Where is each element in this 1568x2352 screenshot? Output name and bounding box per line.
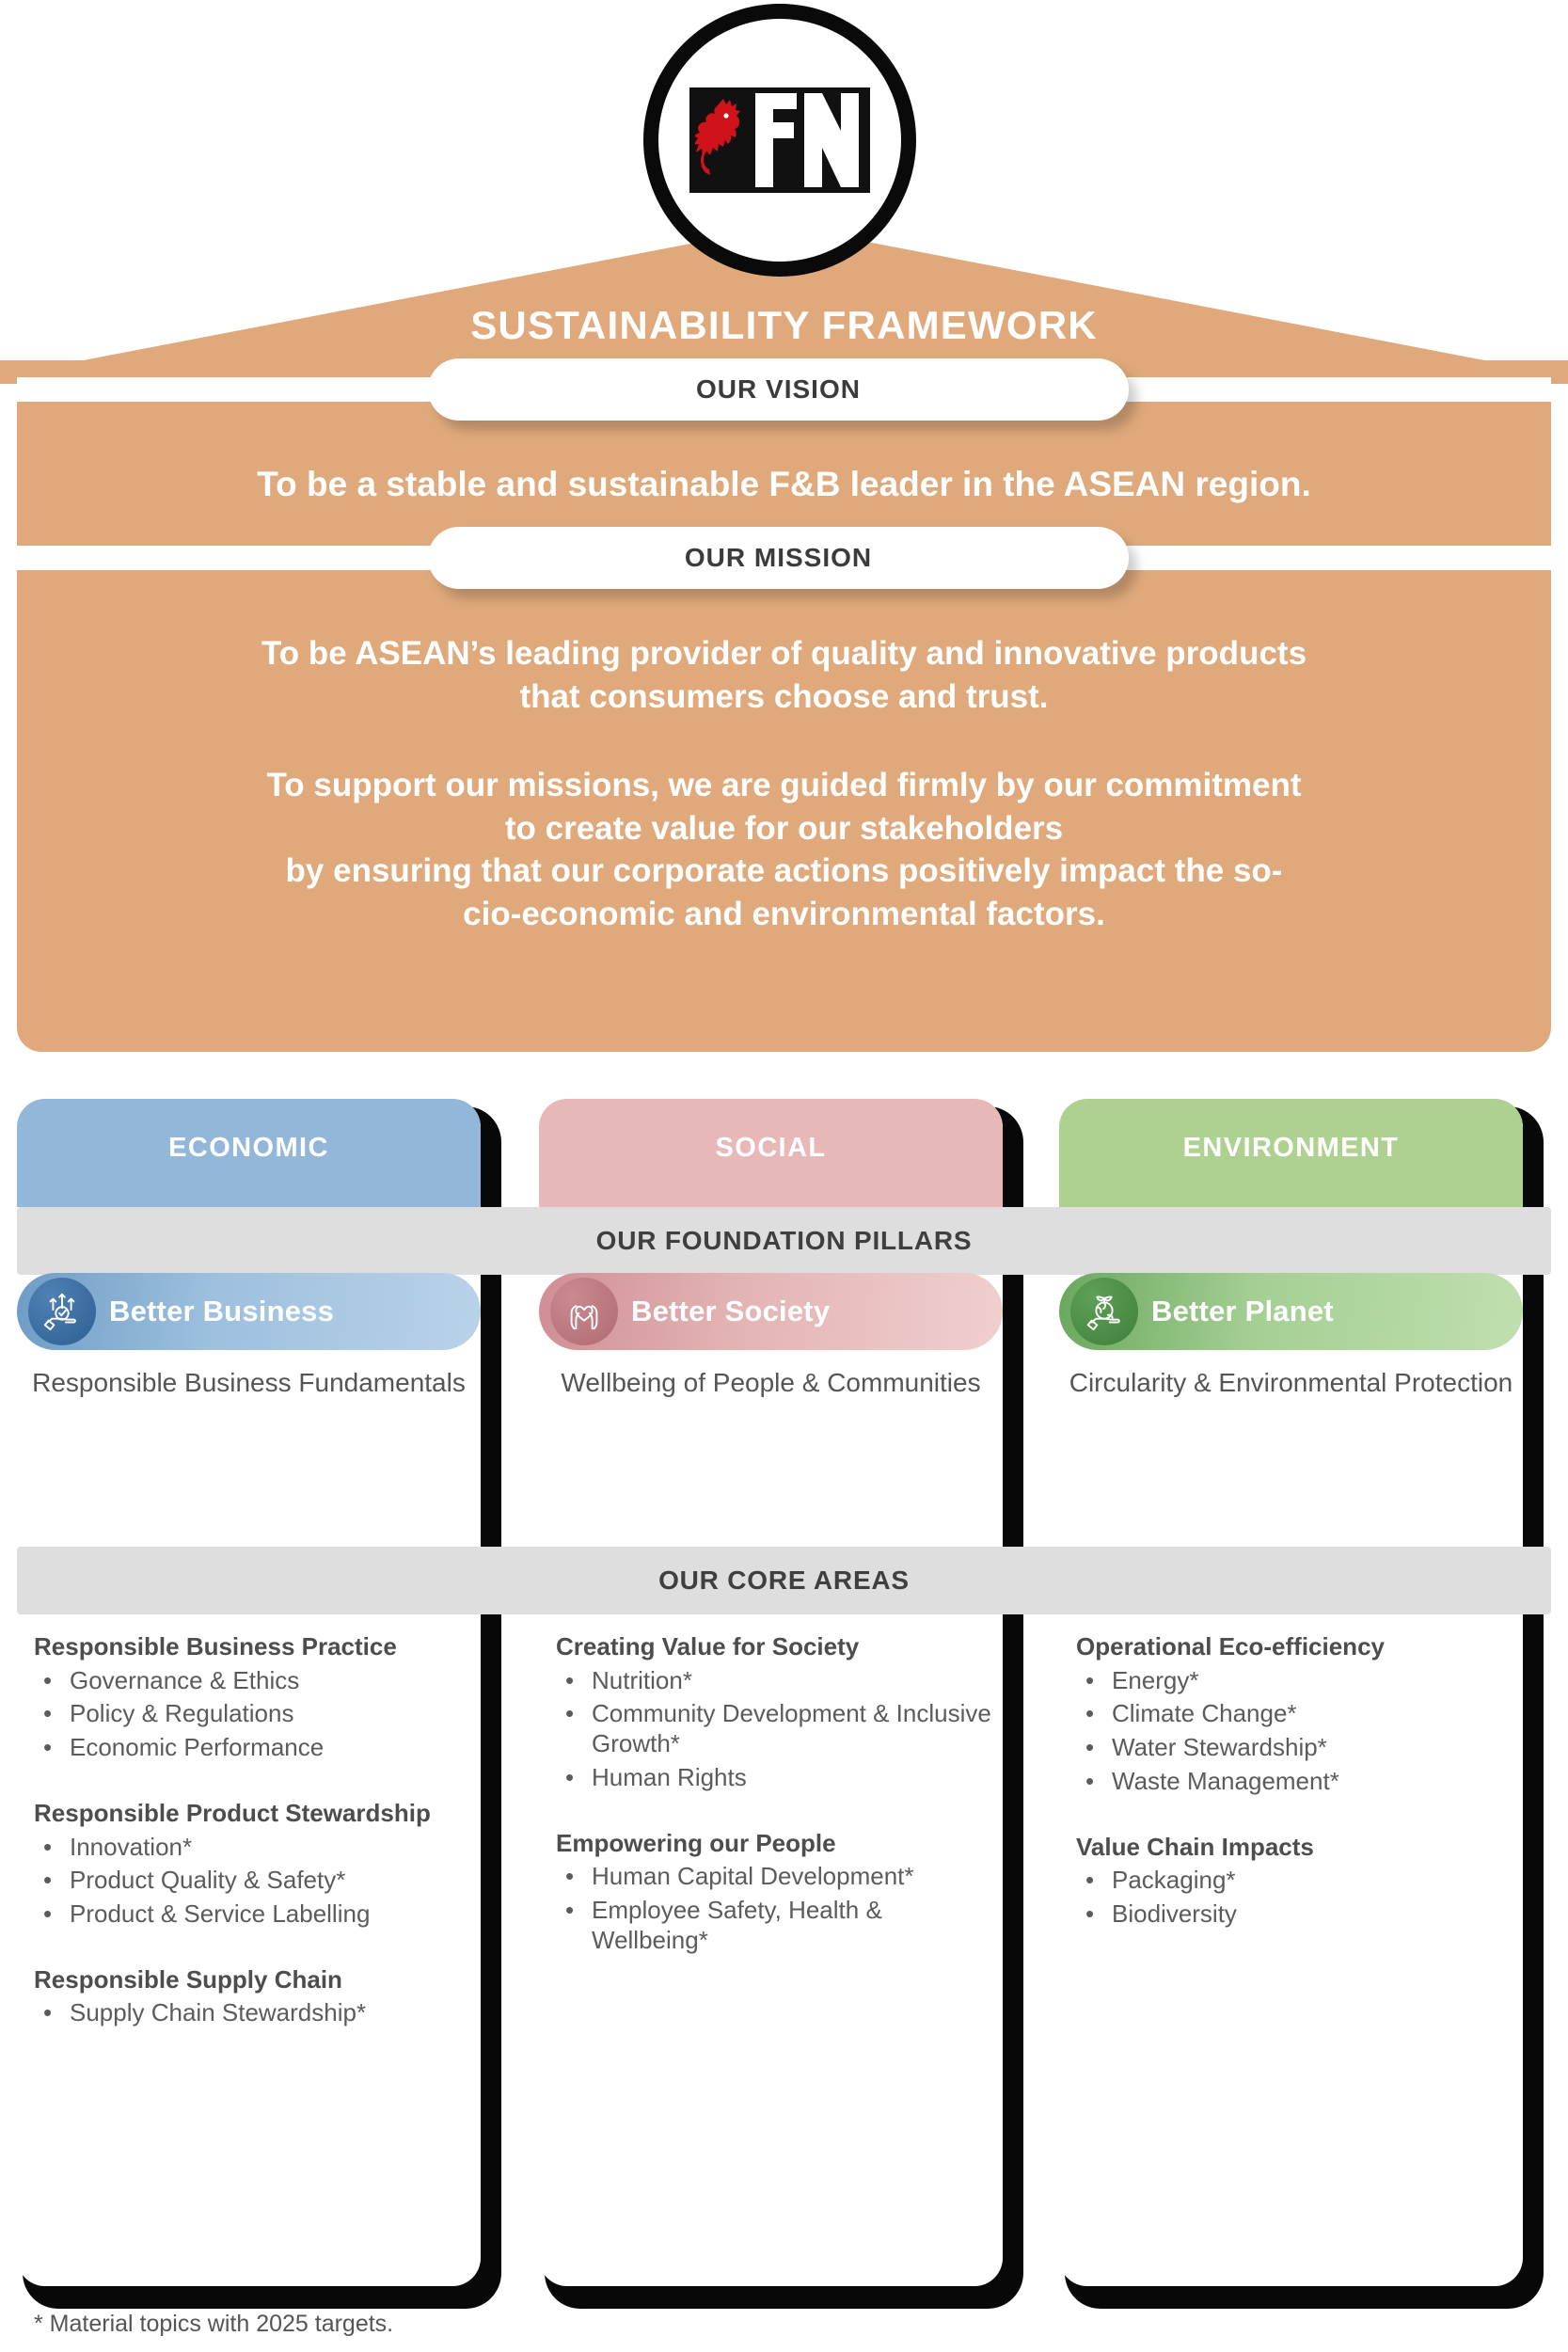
pillar-chip-label-better-society: Better Society	[631, 1295, 830, 1328]
fn-logo-mark	[689, 87, 870, 193]
core-areas-environment: Operational Eco-efficiencyEnergy*Climate…	[1076, 1632, 1518, 1930]
core-item-list: Packaging*Biodiversity	[1076, 1866, 1518, 1929]
pillar-chip-better-planet[interactable]: Better Planet	[1059, 1273, 1523, 1350]
core-item: Product Quality & Safety*	[34, 1866, 476, 1896]
core-item: Energy*	[1076, 1666, 1518, 1696]
column-header-environment[interactable]: ENVIRONMENT	[1059, 1099, 1523, 1207]
core-group: Operational Eco-efficiencyEnergy*Climate…	[1076, 1632, 1518, 1797]
fn-letters-icon	[750, 87, 870, 193]
core-item: Human Capital Development*	[556, 1862, 998, 1892]
core-areas-label: OUR CORE AREAS	[658, 1565, 910, 1596]
roof-section: SUSTAINABILITY FRAMEWORK	[0, 0, 1568, 376]
pillar-subtitle-environment: Circularity & Environmental Protection	[1059, 1366, 1523, 1400]
mission-spacer	[56, 719, 1512, 764]
core-item: Employee Safety, Health & Wellbeing*	[556, 1896, 998, 1955]
core-group-title: Value Chain Impacts	[1076, 1833, 1518, 1863]
core-group: Responsible Product StewardshipInnovatio…	[34, 1799, 476, 1930]
core-item: Innovation*	[34, 1833, 476, 1863]
our-vision-tab[interactable]: OUR VISION	[428, 358, 1129, 421]
mission-line-6: cio-economic and environmental factors.	[56, 893, 1512, 936]
core-areas-band: OUR CORE AREAS	[17, 1547, 1551, 1614]
core-item: Packaging*	[1076, 1866, 1518, 1896]
core-item-list: Nutrition*Community Development & Inclus…	[556, 1666, 998, 1793]
header-wrap-economic: ECONOMIC	[17, 1099, 481, 1207]
core-areas-economic: Responsible Business PracticeGovernance …	[34, 1632, 476, 2028]
mission-line-2: that consumers choose and trust.	[56, 675, 1512, 719]
pillar-chip-better-business[interactable]: Better Business	[17, 1273, 481, 1350]
mission-line-5: by ensuring that our corporate actions p…	[56, 850, 1512, 893]
footnote: * Material topics with 2025 targets.	[34, 2311, 393, 2338]
core-item-list: Innovation*Product Quality & Safety*Prod…	[34, 1833, 476, 1930]
core-item: Product & Service Labelling	[34, 1899, 476, 1930]
core-group: Empowering our PeopleHuman Capital Devel…	[556, 1829, 998, 1956]
core-item: Water Stewardship*	[1076, 1733, 1518, 1763]
sustainability-framework-diagram: SUSTAINABILITY FRAMEWORK OUR VISION To b…	[0, 0, 1568, 2352]
our-mission-label: OUR MISSION	[685, 543, 872, 573]
foundation-pillars-band: OUR FOUNDATION PILLARS	[17, 1207, 1551, 1275]
foundation-pillars-label: OUR FOUNDATION PILLARS	[596, 1226, 973, 1256]
our-mission-tab[interactable]: OUR MISSION	[428, 527, 1129, 589]
core-item-list: Energy*Climate Change*Water Stewardship*…	[1076, 1666, 1518, 1797]
core-group-title: Creating Value for Society	[556, 1632, 998, 1662]
our-vision-label: OUR VISION	[696, 374, 861, 405]
core-group-title: Responsible Business Practice	[34, 1632, 476, 1662]
pillar-subtitle-economic: Responsible Business Fundamentals	[17, 1366, 481, 1400]
core-group-title: Responsible Supply Chain	[34, 1965, 476, 1995]
pillar-chip-better-society[interactable]: Better Society	[539, 1273, 1003, 1350]
core-item: Governance & Ethics	[34, 1666, 476, 1696]
core-group: Value Chain ImpactsPackaging*Biodiversit…	[1076, 1833, 1518, 1930]
fn-logo	[658, 19, 901, 262]
core-item: Community Development & Inclusive Growth…	[556, 1699, 998, 1758]
column-header-label-economic: ECONOMIC	[168, 1133, 329, 1164]
hand-growth-check-icon	[28, 1278, 96, 1345]
mission-statement: To be ASEAN’s leading provider of qualit…	[56, 632, 1512, 936]
pillar-chip-label-better-planet: Better Planet	[1151, 1295, 1334, 1328]
core-item-list: Supply Chain Stewardship*	[34, 1998, 476, 2028]
core-item: Climate Change*	[1076, 1699, 1518, 1729]
core-item: Biodiversity	[1076, 1899, 1518, 1930]
core-item: Supply Chain Stewardship*	[34, 1998, 476, 2028]
core-item-list: Governance & EthicsPolicy & RegulationsE…	[34, 1666, 476, 1763]
column-header-label-environment: ENVIRONMENT	[1183, 1133, 1400, 1164]
core-item: Waste Management*	[1076, 1767, 1518, 1797]
core-item: Policy & Regulations	[34, 1699, 476, 1729]
core-item: Economic Performance	[34, 1733, 476, 1763]
header-wrap-social: SOCIAL	[539, 1099, 1003, 1207]
vision-statement: To be a stable and sustainable F&B leade…	[56, 463, 1512, 506]
pillar-subtitle-social: Wellbeing of People & Communities	[539, 1366, 1003, 1400]
mission-line-1: To be ASEAN’s leading provider of qualit…	[56, 632, 1512, 675]
header-wrap-environment: ENVIRONMENT	[1059, 1099, 1523, 1207]
mission-line-3: To support our missions, we are guided f…	[56, 764, 1512, 807]
hands-heart-icon	[550, 1278, 618, 1345]
core-item-list: Human Capital Development*Employee Safet…	[556, 1862, 998, 1955]
mission-line-4: to create value for our stakeholders	[56, 807, 1512, 850]
core-group-title: Responsible Product Stewardship	[34, 1799, 476, 1829]
page-title: SUSTAINABILITY FRAMEWORK	[0, 303, 1568, 348]
column-header-economic[interactable]: ECONOMIC	[17, 1099, 481, 1207]
hand-globe-leaf-icon	[1070, 1278, 1138, 1345]
core-group-title: Operational Eco-efficiency	[1076, 1632, 1518, 1662]
core-group-title: Empowering our People	[556, 1829, 998, 1859]
core-group: Responsible Business PracticeGovernance …	[34, 1632, 476, 1763]
core-areas-social: Creating Value for SocietyNutrition*Comm…	[556, 1632, 998, 1955]
lion-icon	[695, 95, 748, 185]
core-item: Human Rights	[556, 1763, 998, 1793]
core-group: Creating Value for SocietyNutrition*Comm…	[556, 1632, 998, 1793]
column-header-label-social: SOCIAL	[716, 1133, 827, 1164]
core-item: Nutrition*	[556, 1666, 998, 1696]
column-header-social[interactable]: SOCIAL	[539, 1099, 1003, 1207]
pillar-chip-label-better-business: Better Business	[109, 1295, 334, 1328]
core-group: Responsible Supply ChainSupply Chain Ste…	[34, 1965, 476, 2028]
